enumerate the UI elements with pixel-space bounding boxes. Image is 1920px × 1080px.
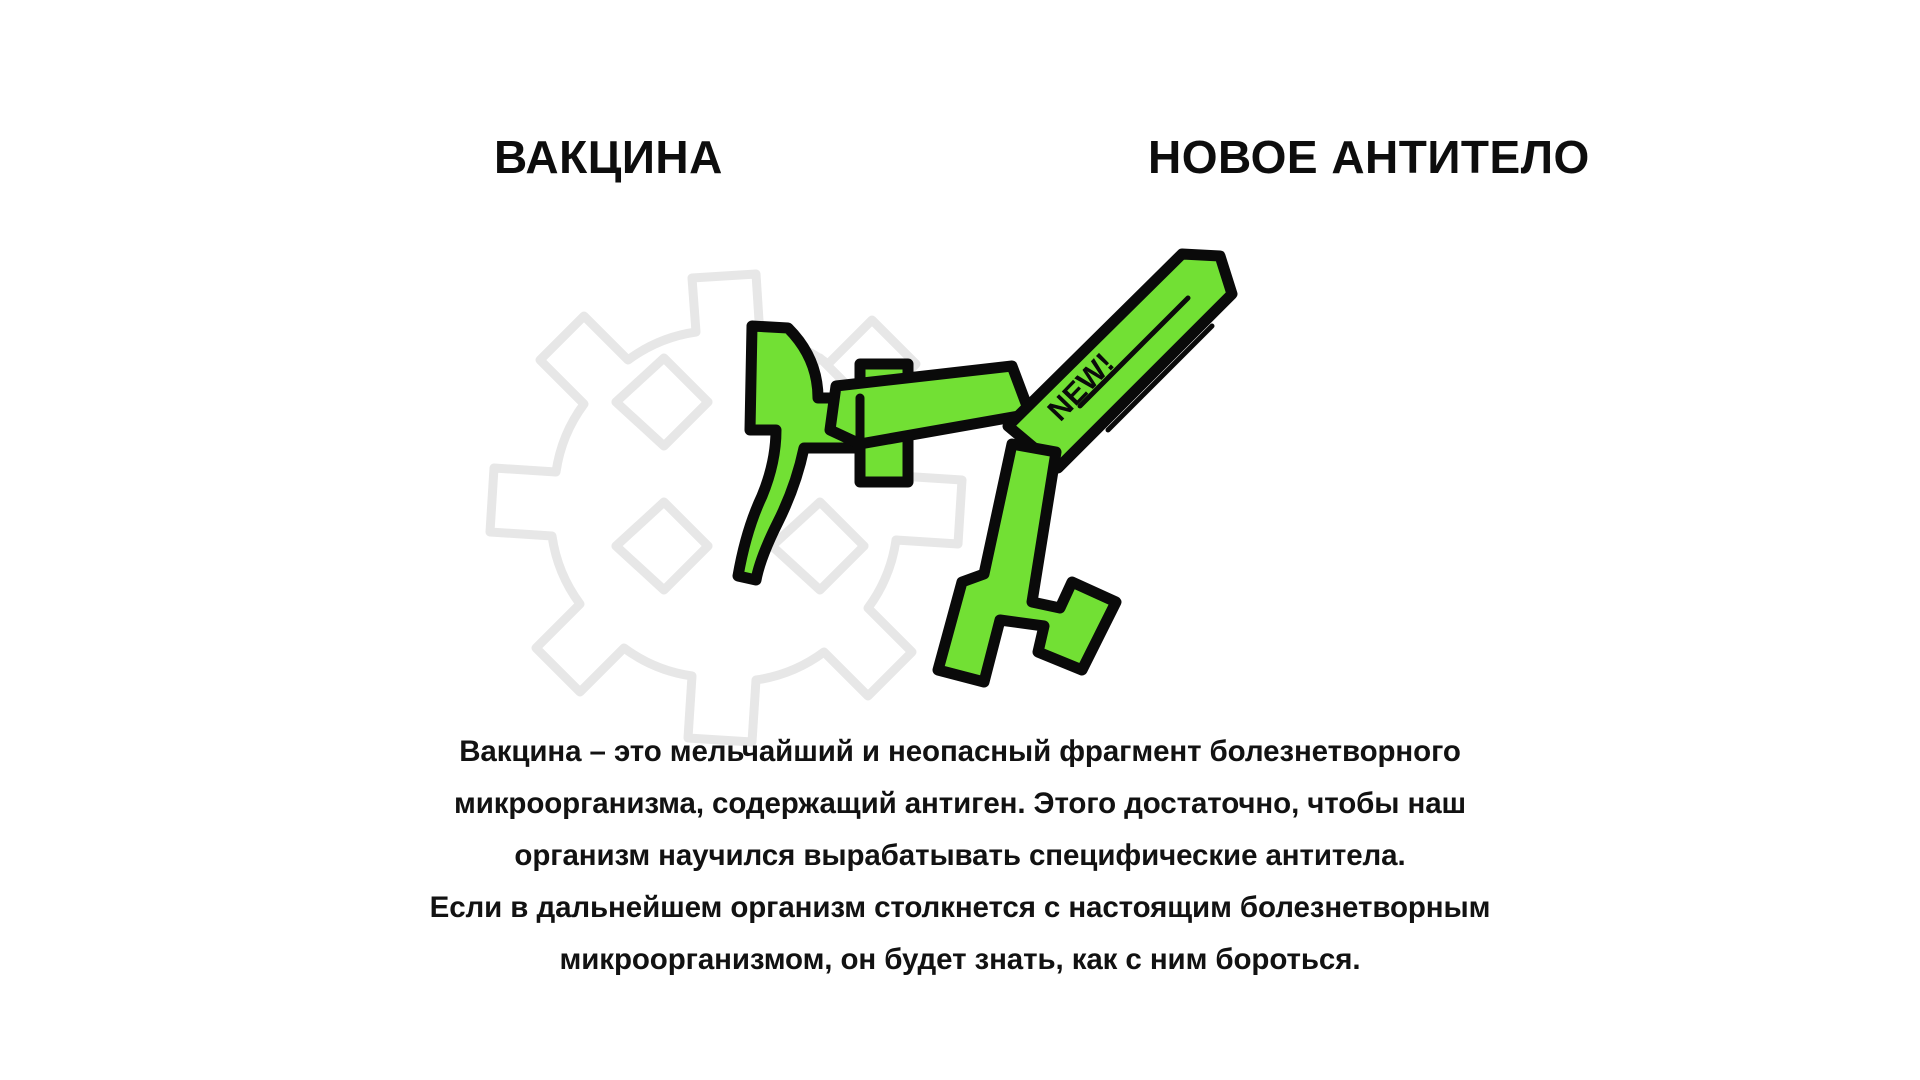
caption-line: микроорганизма, содержащий антиген. Этог… xyxy=(280,778,1640,830)
caption-line: организм научился вырабатывать специфиче… xyxy=(280,830,1640,882)
caption-line: Вакцина – это мельчайший и неопасный фра… xyxy=(280,726,1640,778)
heading-new-antibody: НОВОЕ АНТИТЕЛО xyxy=(1148,134,1590,180)
pathogen-gear-icon xyxy=(490,274,962,742)
caption-line: микроорганизмом, он будет знать, как с н… xyxy=(280,934,1640,986)
headings-row: ВАКЦИНА НОВОЕ АНТИТЕЛО xyxy=(0,126,1920,196)
caption-block: Вакцина – это мельчайший и неопасный фра… xyxy=(280,726,1640,986)
caption-line: Если в дальнейшем организм столкнется с … xyxy=(280,882,1640,934)
slide-canvas: ВАКЦИНА НОВОЕ АНТИТЕЛО xyxy=(0,0,1920,1080)
illustration-antibody-binding: NEW! xyxy=(560,230,1440,700)
antibody-new-arm xyxy=(1008,254,1232,468)
heading-vaccine: ВАКЦИНА xyxy=(494,134,723,180)
